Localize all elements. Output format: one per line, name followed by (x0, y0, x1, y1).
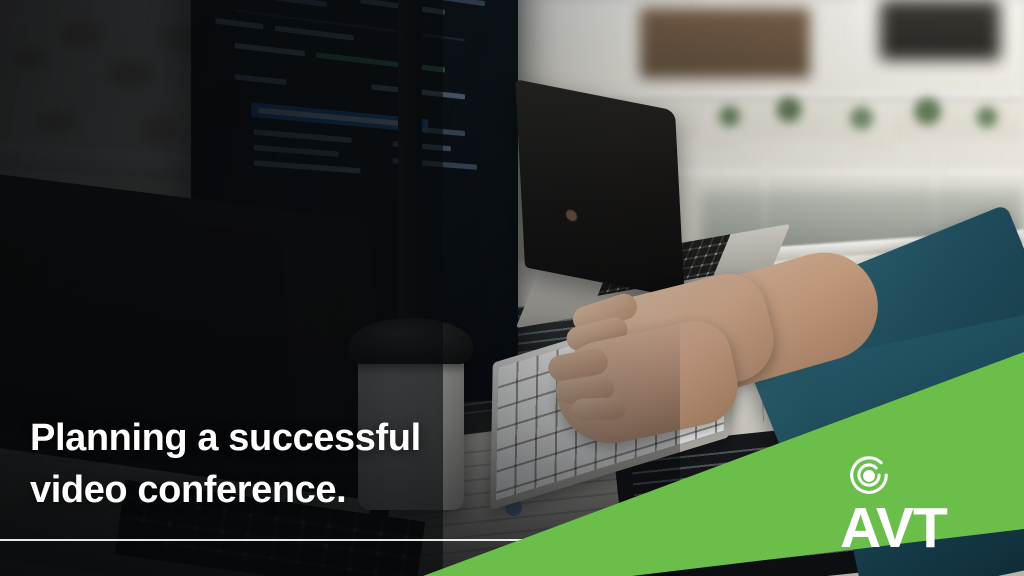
headline-line-1: Planning a successful (30, 412, 450, 464)
divider-line (0, 539, 668, 541)
marketing-banner: Planning a successful video conference. … (0, 0, 1024, 576)
avt-spiral-circle-icon (846, 452, 892, 498)
brand-name: AVT (840, 500, 947, 556)
headline-line-2: video conference. (30, 464, 450, 516)
brand-logo[interactable]: AVT (840, 452, 1000, 556)
headline: Planning a successful video conference. (30, 412, 450, 516)
